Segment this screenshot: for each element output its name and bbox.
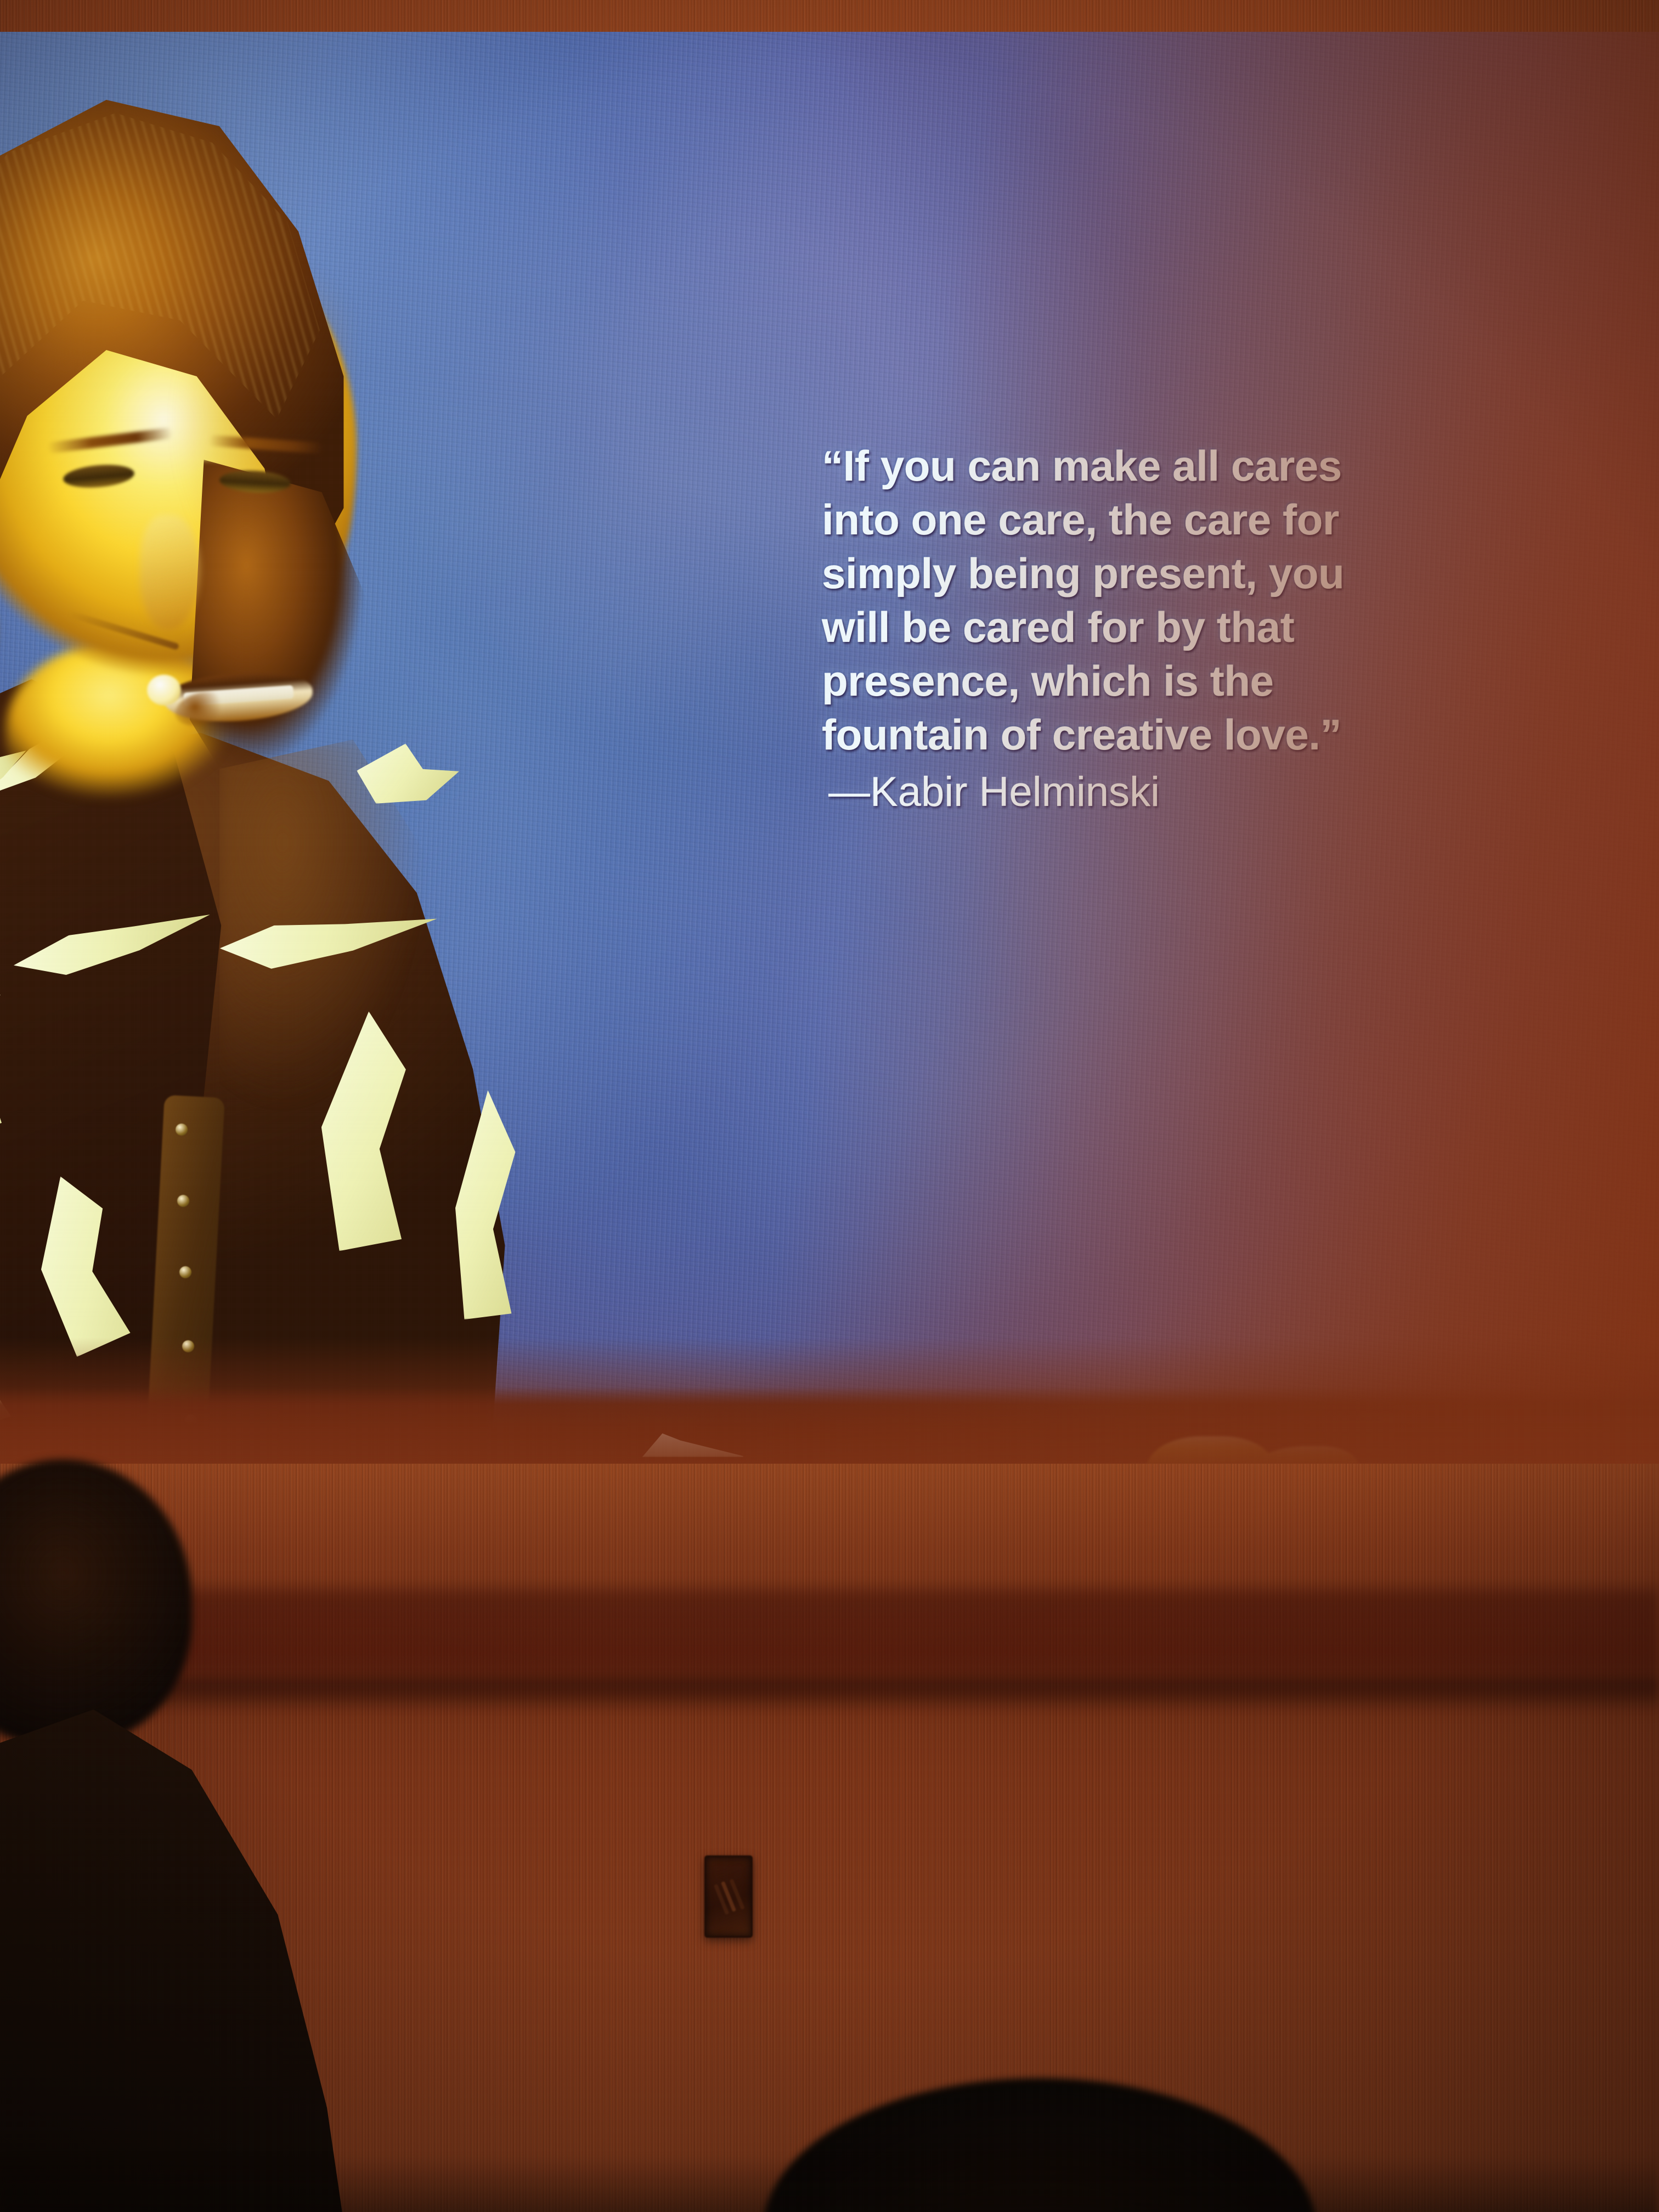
screen-bottom-fade xyxy=(0,1338,1659,1464)
foreground-shadow xyxy=(0,2156,1659,2212)
wall-outlet-plate xyxy=(704,1855,753,1938)
photo-scene: “If you can make all cares into one care… xyxy=(0,0,1659,2212)
projection-screen: “If you can make all cares into one care… xyxy=(0,32,1659,1464)
projector-edge-falloff xyxy=(0,32,1659,1464)
